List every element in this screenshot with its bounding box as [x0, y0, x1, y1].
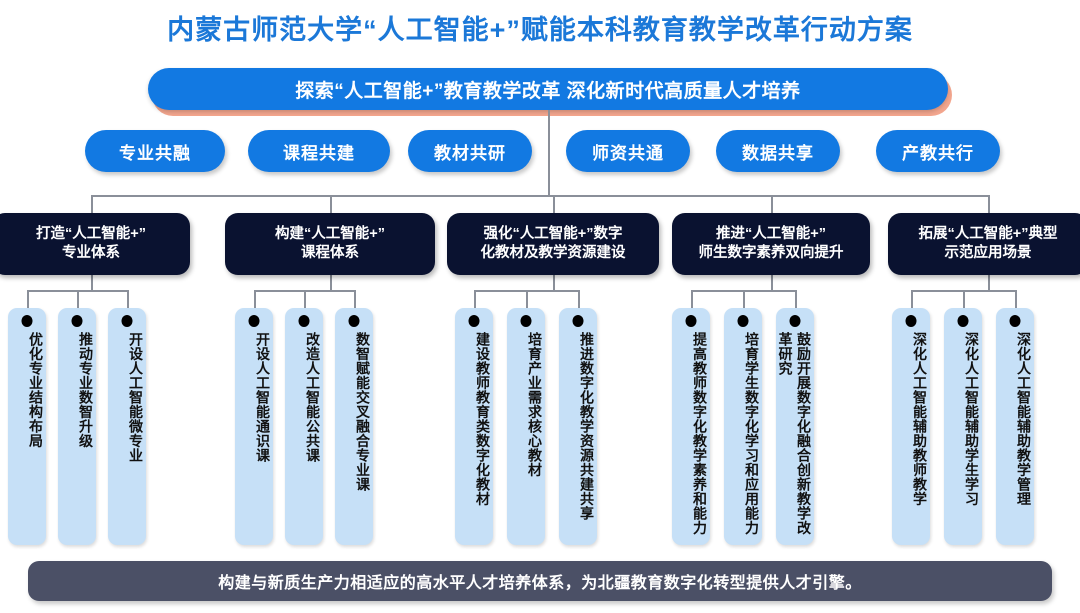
trunk-line [548, 110, 550, 195]
leaf-drop-2-2 [304, 290, 306, 308]
leaf-item-label: 开设人工智能通识课 [235, 332, 273, 540]
banner-label: 探索“人工智能+”教育教学改革 深化新时代高质量人才培养 [148, 68, 948, 110]
leaf-item-3-2[interactable]: 培育产业需求核心教材 [507, 308, 545, 545]
bullet-dot-icon [790, 315, 801, 327]
leaf-stem-3 [553, 275, 555, 290]
bullet-dot-icon [906, 315, 917, 327]
leaf-drop-5-1 [911, 290, 913, 308]
section-drop-5 [988, 195, 990, 213]
leaf-item-4-2[interactable]: 培育学生数字化学习和应用能力 [724, 308, 762, 545]
leaf-item-label: 推进数字化教学资源共建共享 [559, 332, 597, 540]
section-title-line1: 推进“人工智能+” [699, 225, 844, 244]
section-drop-1 [91, 195, 93, 213]
pill-3[interactable]: 教材共研 [408, 130, 532, 172]
leaf-stem-1 [91, 275, 93, 290]
leaf-item-label: 深化人工智能辅助学生学习 [944, 332, 982, 540]
leaf-drop-4-3 [795, 290, 797, 308]
main-banner: 探索“人工智能+”教育教学改革 深化新时代高质量人才培养 [148, 68, 948, 110]
leaf-drop-1-1 [27, 290, 29, 308]
bullet-dot-icon [686, 315, 697, 327]
leaf-drop-5-3 [1015, 290, 1017, 308]
leaf-item-3-1[interactable]: 建设教师教育类数字化教材 [455, 308, 493, 545]
section-title-line1: 拓展“人工智能+”典型 [919, 225, 1058, 244]
section-title-line1: 构建“人工智能+” [275, 225, 385, 244]
leaf-item-label: 改造人工智能公共课 [285, 332, 323, 540]
bullet-dot-icon [738, 315, 749, 327]
leaf-item-2-3[interactable]: 数智赋能交叉融合专业课 [335, 308, 373, 545]
section-box-3[interactable]: 强化“人工智能+”数字化教材及教学资源建设 [447, 213, 659, 275]
leaf-item-5-2[interactable]: 深化人工智能辅助学生学习 [944, 308, 982, 545]
leaf-stem-5 [988, 275, 990, 290]
page-title: 内蒙古师范大学“人工智能+”赋能本科教育教学改革行动方案 [0, 8, 1080, 47]
leaf-item-label: 培育产业需求核心教材 [507, 332, 545, 540]
bullet-dot-icon [469, 315, 480, 327]
leaf-item-4-3[interactable]: 鼓励开展数字化融合创新教学改革研究 [776, 308, 814, 545]
section-title-line1: 打造“人工智能+” [36, 225, 146, 244]
leaf-item-5-3[interactable]: 深化人工智能辅助教学管理 [996, 308, 1034, 545]
section-title-line2: 课程体系 [275, 244, 385, 263]
bullet-dot-icon [958, 315, 969, 327]
section-box-5[interactable]: 拓展“人工智能+”典型示范应用场景 [888, 213, 1080, 275]
leaf-drop-4-2 [743, 290, 745, 308]
leaf-item-5-1[interactable]: 深化人工智能辅助教师教学 [892, 308, 930, 545]
pill-5[interactable]: 数据共享 [716, 130, 840, 172]
leaf-stem-2 [330, 275, 332, 290]
leaf-item-label: 鼓励开展数字化融合创新教学改革研究 [776, 332, 814, 540]
leaf-item-label: 数智赋能交叉融合专业课 [335, 332, 373, 540]
bullet-dot-icon [573, 315, 584, 327]
leaf-item-label: 建设教师教育类数字化教材 [455, 332, 493, 540]
leaf-item-label: 开设人工智能微专业 [108, 332, 146, 540]
section-box-4[interactable]: 推进“人工智能+”师生数字素养双向提升 [672, 213, 870, 275]
leaf-drop-3-1 [474, 290, 476, 308]
leaf-item-1-3[interactable]: 开设人工智能微专业 [108, 308, 146, 545]
section-title-line2: 示范应用场景 [919, 244, 1058, 263]
section-box-2[interactable]: 构建“人工智能+”课程体系 [225, 213, 435, 275]
leaf-item-label: 培育学生数字化学习和应用能力 [724, 332, 762, 540]
pill-4[interactable]: 师资共通 [566, 130, 690, 172]
footer-banner: 构建与新质生产力相适应的高水平人才培养体系，为北疆教育数字化转型提供人才引擎。 [28, 561, 1052, 601]
diagram-canvas: 内蒙古师范大学“人工智能+”赋能本科教育教学改革行动方案 探索“人工智能+”教育… [0, 0, 1080, 613]
leaf-item-2-1[interactable]: 开设人工智能通识课 [235, 308, 273, 545]
bullet-dot-icon [22, 315, 33, 327]
leaf-drop-3-3 [578, 290, 580, 308]
leaf-item-3-3[interactable]: 推进数字化教学资源共建共享 [559, 308, 597, 545]
bullet-dot-icon [1010, 315, 1021, 327]
leaf-drop-2-1 [254, 290, 256, 308]
leaf-drop-5-2 [963, 290, 965, 308]
leaf-item-1-1[interactable]: 优化专业结构布局 [8, 308, 46, 545]
bullet-dot-icon [349, 315, 360, 327]
bullet-dot-icon [72, 315, 83, 327]
section-box-1[interactable]: 打造“人工智能+”专业体系 [0, 213, 190, 275]
leaf-item-1-2[interactable]: 推动专业数智升级 [58, 308, 96, 545]
bullet-dot-icon [521, 315, 532, 327]
section-title-line1: 强化“人工智能+”数字 [481, 225, 626, 244]
section-title-line2: 师生数字素养双向提升 [699, 244, 844, 263]
leaf-drop-1-3 [127, 290, 129, 308]
bullet-dot-icon [299, 315, 310, 327]
section-drop-3 [553, 195, 555, 213]
section-drop-2 [330, 195, 332, 213]
leaf-item-label: 深化人工智能辅助教学管理 [996, 332, 1034, 540]
section-bus [91, 195, 988, 197]
leaf-item-2-2[interactable]: 改造人工智能公共课 [285, 308, 323, 545]
leaf-item-label: 推动专业数智升级 [58, 332, 96, 540]
leaf-item-label: 优化专业结构布局 [8, 332, 46, 540]
leaf-drop-3-2 [526, 290, 528, 308]
bullet-dot-icon [249, 315, 260, 327]
leaf-stem-4 [771, 275, 773, 290]
section-title-line2: 化教材及教学资源建设 [481, 244, 626, 263]
leaf-drop-4-1 [691, 290, 693, 308]
bullet-dot-icon [122, 315, 133, 327]
pill-1[interactable]: 专业共融 [85, 130, 225, 172]
pill-6[interactable]: 产教共行 [876, 130, 1000, 172]
leaf-item-label: 提高教师数字化教学素养和能力 [672, 332, 710, 540]
pill-2[interactable]: 课程共建 [248, 130, 390, 172]
leaf-item-label: 深化人工智能辅助教师教学 [892, 332, 930, 540]
section-title-line2: 专业体系 [36, 244, 146, 263]
leaf-item-4-1[interactable]: 提高教师数字化教学素养和能力 [672, 308, 710, 545]
section-drop-4 [771, 195, 773, 213]
leaf-drop-1-2 [77, 290, 79, 308]
leaf-drop-2-3 [354, 290, 356, 308]
